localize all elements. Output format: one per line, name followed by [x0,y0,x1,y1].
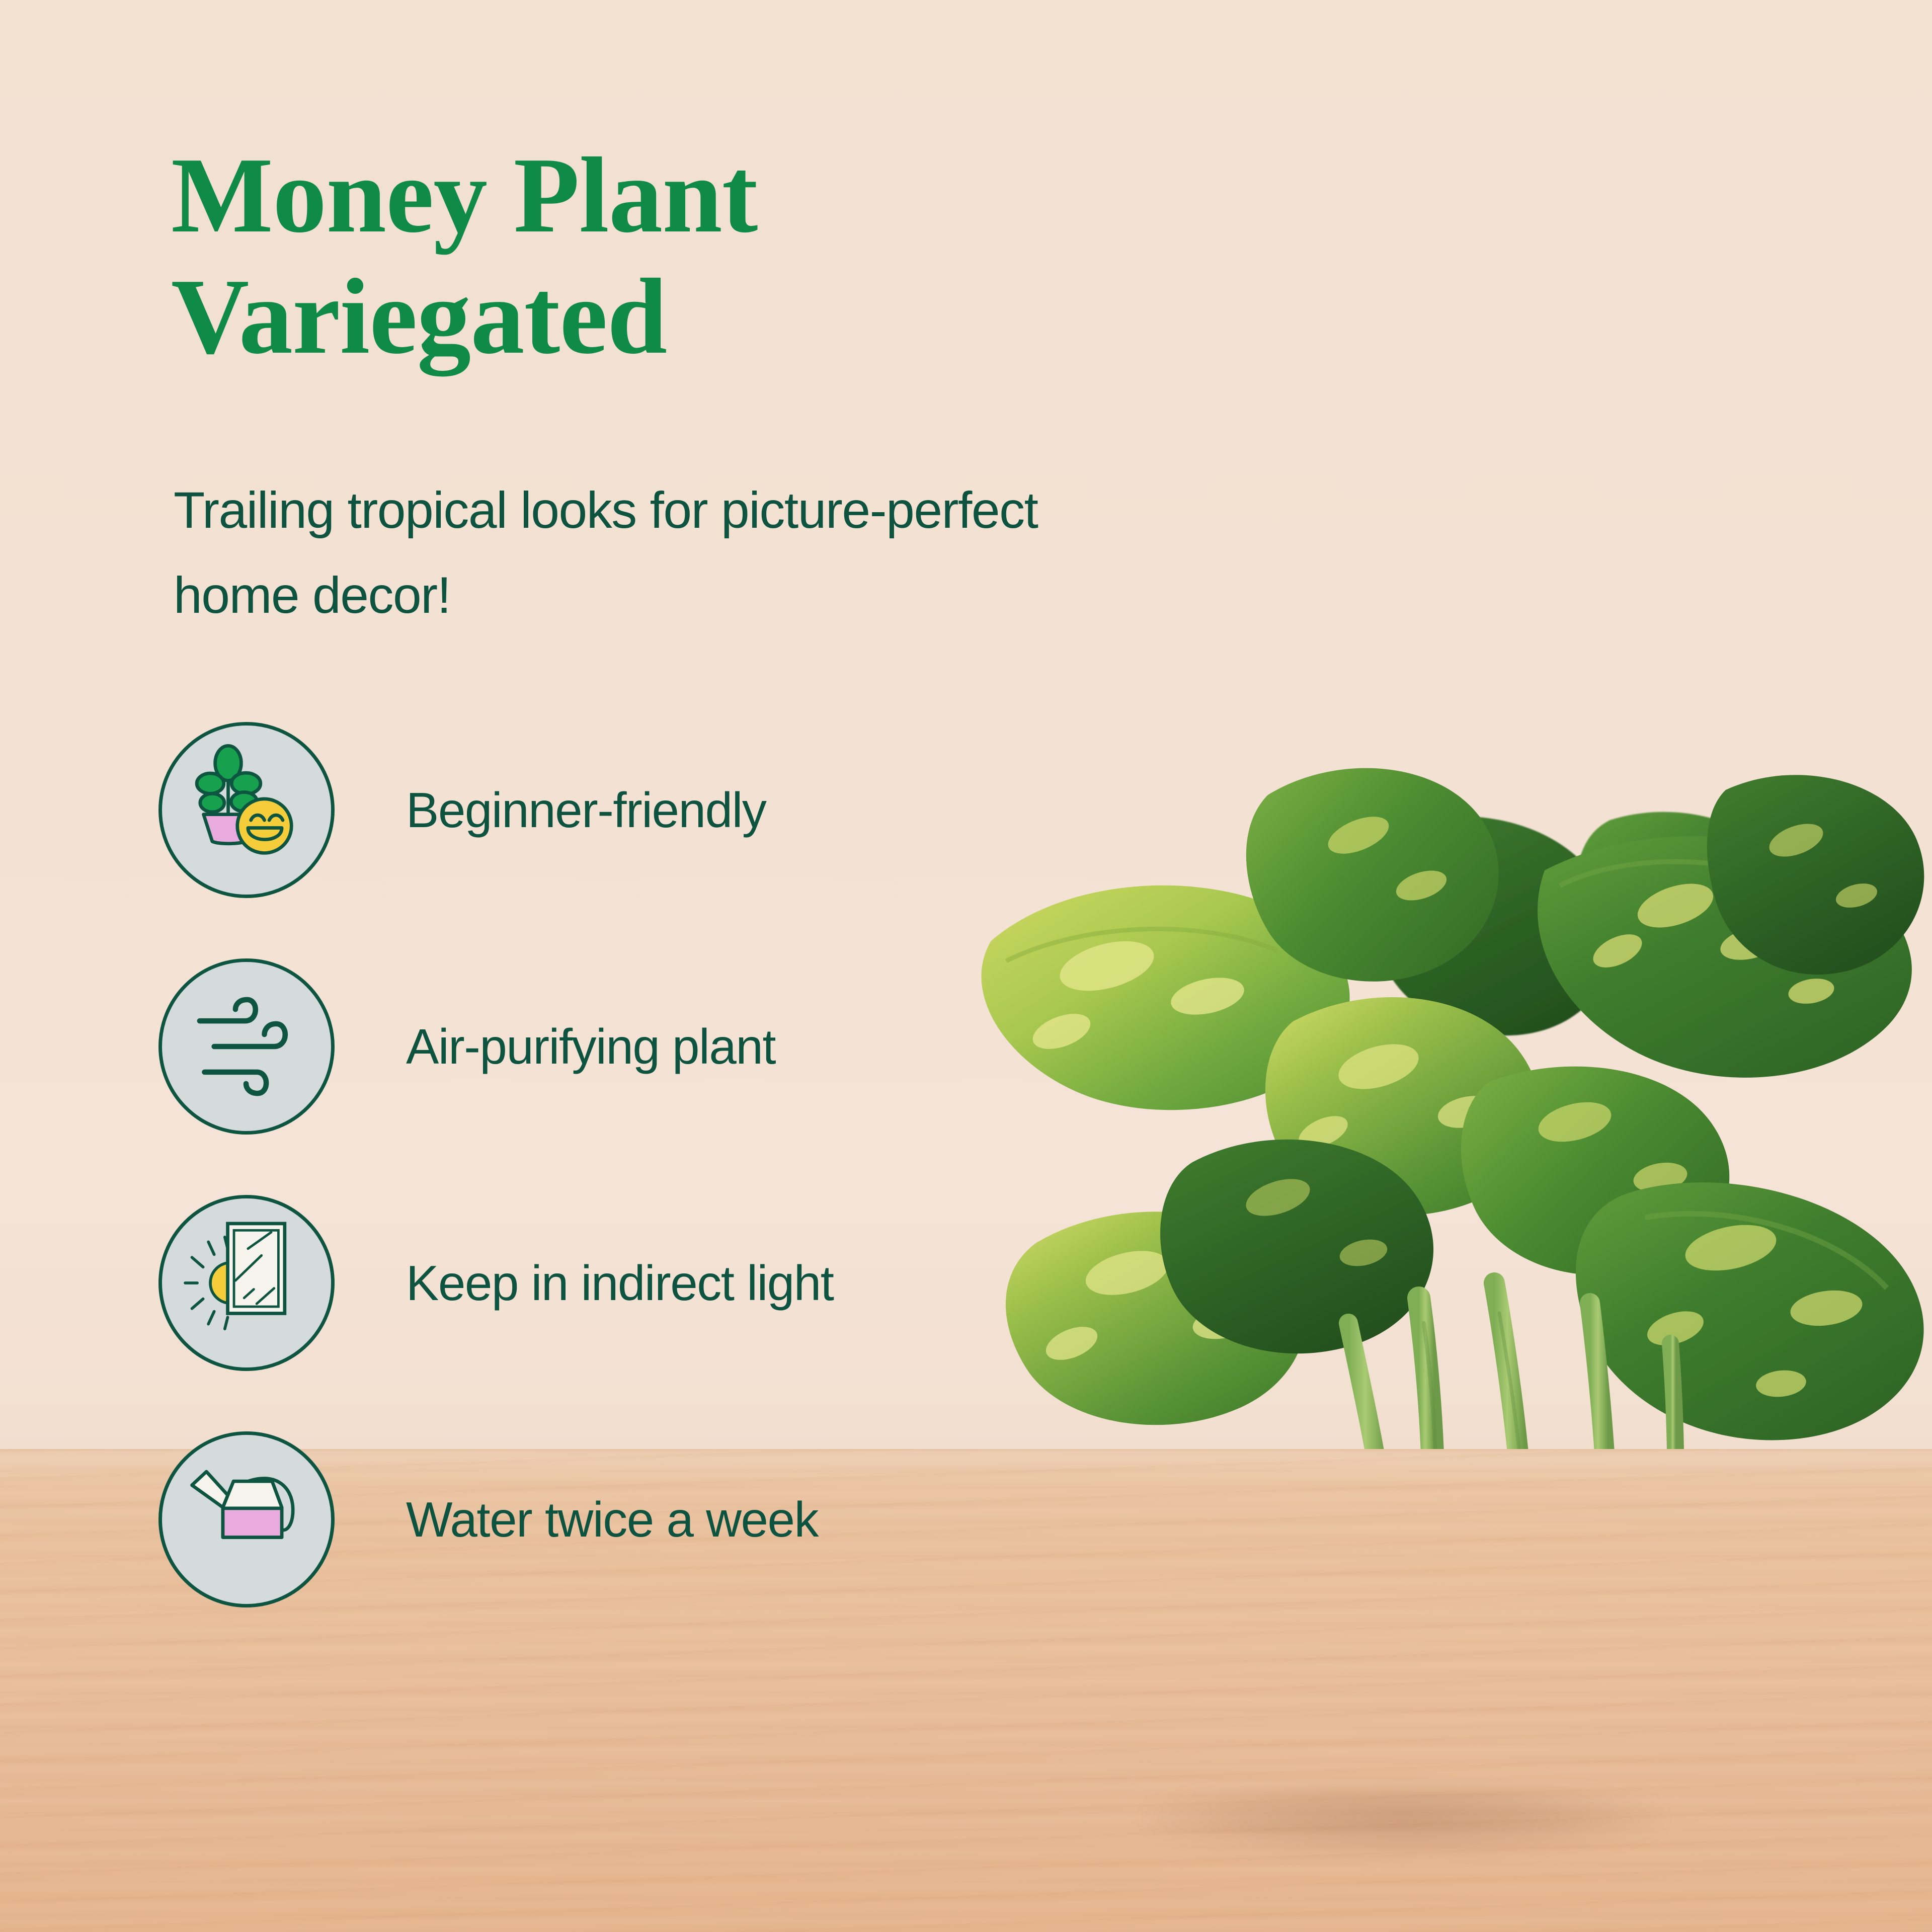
feature-label: Keep in indirect light [406,1195,834,1371]
wind-icon [158,958,335,1135]
page-subtitle: Trailing tropical looks for picture-perf… [174,468,1331,638]
watering-can-icon [158,1431,335,1607]
page-title: Money Plant Variegated [171,135,1177,377]
product-marketing-image: Money Plant Variegated Trailing tropical… [0,0,1932,1932]
feature-label: Beginner-friendly [406,722,766,898]
pot-contact-shadow [1147,1789,1660,1854]
feature-label: Water twice a week [406,1431,818,1607]
feature-label: Air-purifying plant [406,958,775,1135]
plant-smiley-icon [158,722,335,898]
sun-window-icon [158,1195,335,1371]
